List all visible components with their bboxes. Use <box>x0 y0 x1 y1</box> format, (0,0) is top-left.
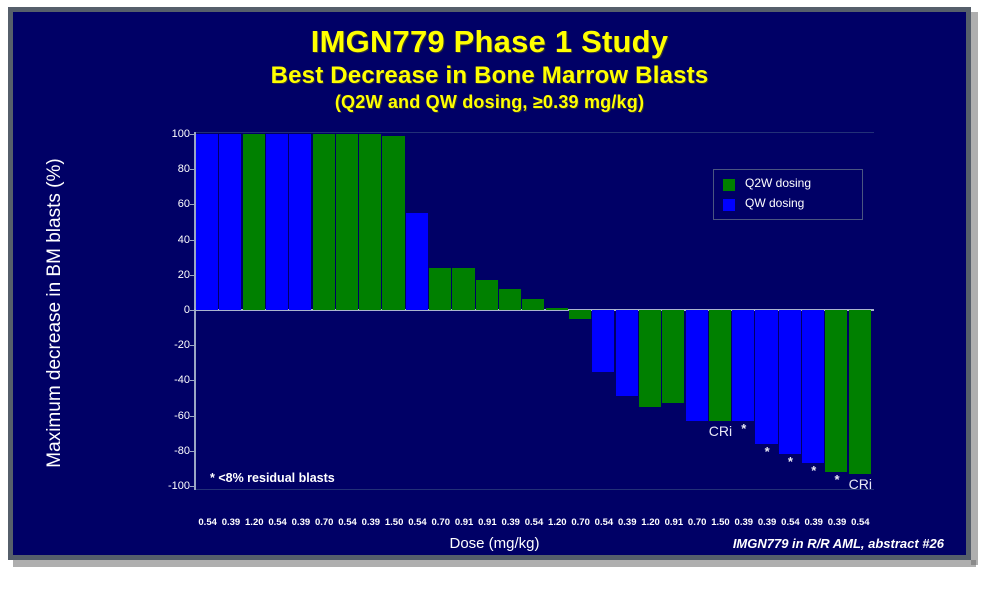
asterisk-annotation: * <box>835 472 840 487</box>
legend-swatch-qw <box>723 199 735 211</box>
bar <box>779 310 801 454</box>
asterisk-annotation: * <box>811 463 816 478</box>
y-axis-tick-mark <box>190 416 195 417</box>
x-axis-tick-label: 1.50 <box>711 517 730 528</box>
slide-shadow-bottom <box>13 560 976 567</box>
x-axis-tick-label: 1.50 <box>385 517 404 528</box>
x-axis-tick-label: 0.54 <box>781 517 800 528</box>
y-axis-tick-mark <box>190 134 195 135</box>
bar <box>313 134 335 310</box>
page-subtitle: Best Decrease in Bone Marrow Blasts <box>13 62 966 90</box>
y-axis-tick-label: 60 <box>150 198 190 210</box>
x-axis-tick-label: 0.54 <box>595 517 614 528</box>
x-axis-tick-label: 0.54 <box>525 517 544 528</box>
x-axis-tick-label: 0.39 <box>758 517 777 528</box>
x-axis-tick-label: 0.39 <box>618 517 637 528</box>
bar <box>802 310 824 463</box>
credit-line: IMGN779 in R/R AML, abstract #26 <box>733 536 944 551</box>
y-axis-tick-label: -100 <box>150 480 190 492</box>
bar <box>452 268 474 310</box>
bar <box>196 134 218 310</box>
x-axis-tick-label: 0.39 <box>828 517 847 528</box>
y-axis-tick-mark <box>190 380 195 381</box>
slide-canvas: IMGN779 Phase 1 Study Best Decrease in B… <box>8 7 971 560</box>
y-axis-tick-label: 80 <box>150 163 190 175</box>
bar <box>219 134 241 310</box>
bar <box>616 310 638 396</box>
page-subtitle-detail: (Q2W and QW dosing, ≥0.39 mg/kg) <box>13 92 966 113</box>
y-axis-tick-mark <box>190 204 195 205</box>
x-axis-tick-label: 0.39 <box>292 517 311 528</box>
plot-bottom-border <box>194 489 874 490</box>
y-axis-tick-label: 0 <box>150 304 190 316</box>
x-axis-tick-label: 0.70 <box>571 517 590 528</box>
bar <box>266 134 288 310</box>
legend-swatch-q2w <box>723 179 735 191</box>
x-axis-tick-label: 0.39 <box>735 517 754 528</box>
x-axis-tick-label: 0.91 <box>665 517 684 528</box>
y-axis-tick-mark <box>190 451 195 452</box>
cri-annotation: CRi <box>849 476 872 492</box>
y-axis-tick-label: 40 <box>150 234 190 246</box>
bar <box>849 310 871 474</box>
plot-top-border <box>194 132 874 133</box>
bar <box>709 310 731 421</box>
bar <box>499 289 521 310</box>
x-axis-tick-label: 0.39 <box>501 517 520 528</box>
bar <box>686 310 708 421</box>
x-axis-tick-label: 0.54 <box>338 517 357 528</box>
bar <box>662 310 684 403</box>
asterisk-annotation: * <box>765 444 770 459</box>
x-axis-tick-label: 0.39 <box>804 517 823 528</box>
y-axis-tick-label: -60 <box>150 410 190 422</box>
x-axis-tick-label: 0.39 <box>222 517 241 528</box>
x-axis-tick-label: 0.54 <box>268 517 287 528</box>
cri-annotation: CRi <box>709 423 732 439</box>
x-axis-tick-label: 0.70 <box>432 517 451 528</box>
bar <box>732 310 754 421</box>
bar <box>825 310 847 472</box>
x-axis-tick-label: 0.91 <box>455 517 474 528</box>
y-axis-tick-label: 100 <box>150 128 190 140</box>
y-axis-tick-mark <box>190 275 195 276</box>
x-axis-tick-label: 0.54 <box>408 517 427 528</box>
slide-root: IMGN779 Phase 1 Study Best Decrease in B… <box>0 0 995 605</box>
x-axis-tick-label: 0.91 <box>478 517 497 528</box>
bar <box>639 310 661 407</box>
y-axis-tick-label: 20 <box>150 269 190 281</box>
x-axis-tick-label: 1.20 <box>548 517 567 528</box>
y-axis-ticks: 100806040200-20-40-60-80-100 <box>146 134 190 486</box>
x-axis-tick-label: 1.20 <box>245 517 264 528</box>
y-axis-tick-mark <box>190 310 195 311</box>
y-axis-tick-mark <box>190 169 195 170</box>
page-title: IMGN779 Phase 1 Study <box>13 24 966 60</box>
y-axis-tick-label: -20 <box>150 339 190 351</box>
asterisk-annotation: * <box>788 454 793 469</box>
x-axis-tick-label: 0.54 <box>198 517 217 528</box>
bar <box>243 134 265 310</box>
y-axis-tick-mark <box>190 345 195 346</box>
footnote: * <8% residual blasts <box>210 471 335 485</box>
slide-shadow-right <box>971 12 978 565</box>
x-axis-tick-label: 0.70 <box>688 517 707 528</box>
bar <box>289 134 311 310</box>
bar <box>522 299 544 310</box>
bar <box>569 310 591 319</box>
legend: Q2W dosing QW dosing <box>713 169 863 220</box>
bar <box>336 134 358 310</box>
bar <box>476 280 498 310</box>
legend-label-q2w: Q2W dosing <box>745 176 811 190</box>
legend-label-qw: QW dosing <box>745 196 804 210</box>
bar <box>429 268 451 310</box>
y-axis-tick-mark <box>190 486 195 487</box>
bar <box>406 213 428 310</box>
x-axis-tick-label: 1.20 <box>641 517 660 528</box>
x-axis-tick-label: 0.54 <box>851 517 870 528</box>
bar <box>382 136 404 310</box>
bar <box>592 310 614 372</box>
bar <box>359 134 381 310</box>
y-axis-tick-mark <box>190 240 195 241</box>
x-axis-tick-label: 0.39 <box>362 517 381 528</box>
y-axis-tick-label: -40 <box>150 374 190 386</box>
bar <box>546 308 568 310</box>
asterisk-annotation: * <box>741 421 746 436</box>
x-axis-tick-label: 0.70 <box>315 517 334 528</box>
y-axis-title: Maximum decrease in BM blasts (%) <box>44 123 66 503</box>
bar <box>755 310 777 444</box>
y-axis-tick-label: -80 <box>150 445 190 457</box>
